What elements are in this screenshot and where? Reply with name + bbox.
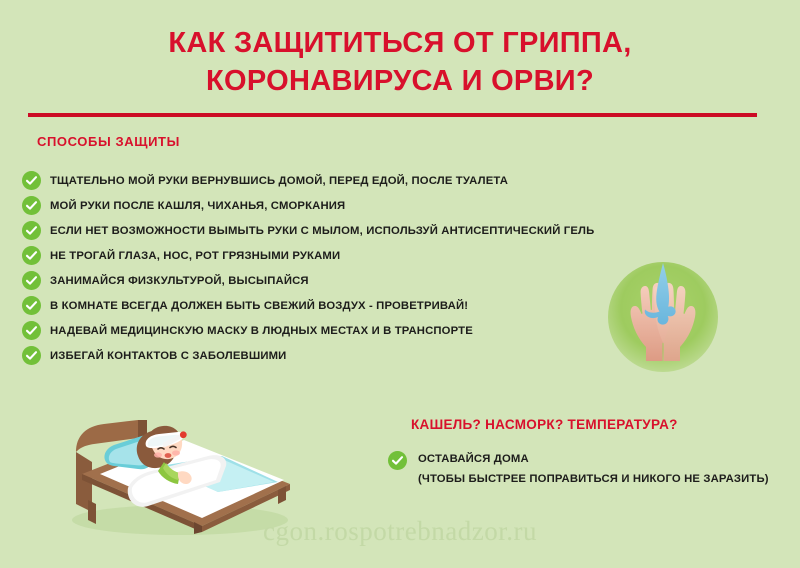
list-item-label: НАДЕВАЙ МЕДИЦИНСКУЮ МАСКУ В ЛЮДНЫХ МЕСТА… <box>50 325 473 337</box>
check-circle-icon <box>22 321 41 340</box>
washing-hands-illustration <box>607 261 719 373</box>
check-circle-icon <box>388 451 407 470</box>
stay-home-line-2: (ЧТОБЫ БЫСТРЕЕ ПОПРАВИТЬСЯ И НИКОГО НЕ З… <box>418 469 769 489</box>
list-item-label: МОЙ РУКИ ПОСЛЕ КАШЛЯ, ЧИХАНЬЯ, СМОРКАНИЯ <box>50 200 345 212</box>
check-circle-icon <box>22 171 41 190</box>
check-circle-icon <box>22 346 41 365</box>
title-line-2: КОРОНАВИРУСА И ОРВИ? <box>0 62 800 100</box>
list-item-label: НЕ ТРОГАЙ ГЛАЗА, НОС, РОТ ГРЯЗНЫМИ РУКАМ… <box>50 250 340 262</box>
list-item-label: ТЩАТЕЛЬНО МОЙ РУКИ ВЕРНУВШИСЬ ДОМОЙ, ПЕР… <box>50 175 508 187</box>
check-circle-icon <box>22 196 41 215</box>
list-item-label: ЗАНИМАЙСЯ ФИЗКУЛЬТУРОЙ, ВЫСЫПАЙСЯ <box>50 275 309 287</box>
list-item: ТЩАТЕЛЬНО МОЙ РУКИ ВЕРНУВШИСЬ ДОМОЙ, ПЕР… <box>22 168 642 193</box>
list-item: ЕСЛИ НЕТ ВОЗМОЖНОСТИ ВЫМЫТЬ РУКИ С МЫЛОМ… <box>22 218 642 243</box>
check-circle-icon <box>22 221 41 240</box>
list-item: ЗАНИМАЙСЯ ФИЗКУЛЬТУРОЙ, ВЫСЫПАЙСЯ <box>22 268 642 293</box>
site-watermark: cgon.rospotrebnadzor.ru <box>0 516 800 547</box>
protection-checklist: ТЩАТЕЛЬНО МОЙ РУКИ ВЕРНУВШИСЬ ДОМОЙ, ПЕР… <box>22 168 642 368</box>
poster-canvas: КАК ЗАЩИТИТЬСЯ ОТ ГРИППА, КОРОНАВИРУСА И… <box>0 0 800 568</box>
check-circle-icon <box>22 271 41 290</box>
section-heading-protection-methods: СПОСОБЫ ЗАЩИТЫ <box>37 134 180 149</box>
stay-home-line-1: ОСТАВАЙСЯ ДОМА <box>418 449 769 469</box>
sick-person-in-bed-illustration <box>52 400 297 535</box>
list-item: НЕ ТРОГАЙ ГЛАЗА, НОС, РОТ ГРЯЗНЫМИ РУКАМ… <box>22 243 642 268</box>
title-divider-rule <box>28 113 757 117</box>
list-item: ИЗБЕГАЙ КОНТАКТОВ С ЗАБОЛЕВШИМИ <box>22 343 642 368</box>
stay-home-text-group: ОСТАВАЙСЯ ДОМА (ЧТОБЫ БЫСТРЕЕ ПОПРАВИТЬС… <box>418 449 769 489</box>
poster-title: КАК ЗАЩИТИТЬСЯ ОТ ГРИППА, КОРОНАВИРУСА И… <box>0 24 800 100</box>
list-item-label: ИЗБЕГАЙ КОНТАКТОВ С ЗАБОЛЕВШИМИ <box>50 350 286 362</box>
list-item: В КОМНАТЕ ВСЕГДА ДОЛЖЕН БЫТЬ СВЕЖИЙ ВОЗД… <box>22 293 642 318</box>
list-item: НАДЕВАЙ МЕДИЦИНСКУЮ МАСКУ В ЛЮДНЫХ МЕСТА… <box>22 318 642 343</box>
check-circle-icon <box>22 246 41 265</box>
list-item-label: В КОМНАТЕ ВСЕГДА ДОЛЖЕН БЫТЬ СВЕЖИЙ ВОЗД… <box>50 300 468 312</box>
stay-home-advice: ОСТАВАЙСЯ ДОМА (ЧТОБЫ БЫСТРЕЕ ПОПРАВИТЬС… <box>388 449 769 489</box>
check-circle-icon <box>22 296 41 315</box>
list-item: МОЙ РУКИ ПОСЛЕ КАШЛЯ, ЧИХАНЬЯ, СМОРКАНИЯ <box>22 193 642 218</box>
title-line-1: КАК ЗАЩИТИТЬСЯ ОТ ГРИППА, <box>0 24 800 62</box>
symptoms-heading: КАШЕЛЬ? НАСМОРК? ТЕМПЕРАТУРА? <box>411 417 678 432</box>
list-item-label: ЕСЛИ НЕТ ВОЗМОЖНОСТИ ВЫМЫТЬ РУКИ С МЫЛОМ… <box>50 225 594 237</box>
